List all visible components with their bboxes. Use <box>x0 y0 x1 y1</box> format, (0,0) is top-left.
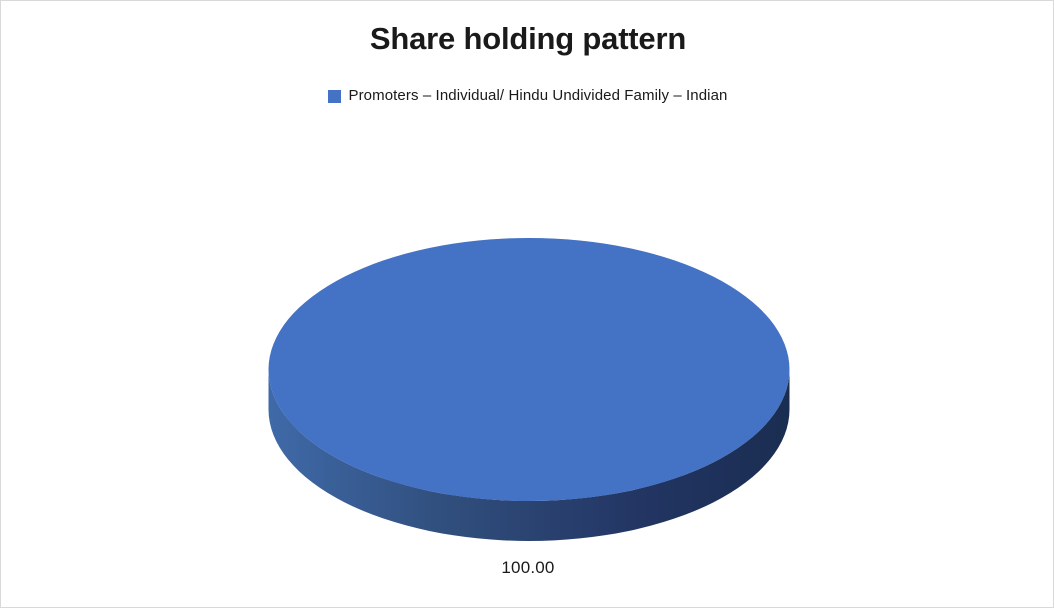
pie-3d-graphic <box>1 1 1054 608</box>
pie-chart-plot-area <box>1 1 1054 608</box>
pie-slice-promoters[interactable] <box>269 238 790 501</box>
pie-data-label: 100.00 <box>1 558 1054 578</box>
chart-container: Share holding pattern Promoters – Indivi… <box>0 0 1054 608</box>
